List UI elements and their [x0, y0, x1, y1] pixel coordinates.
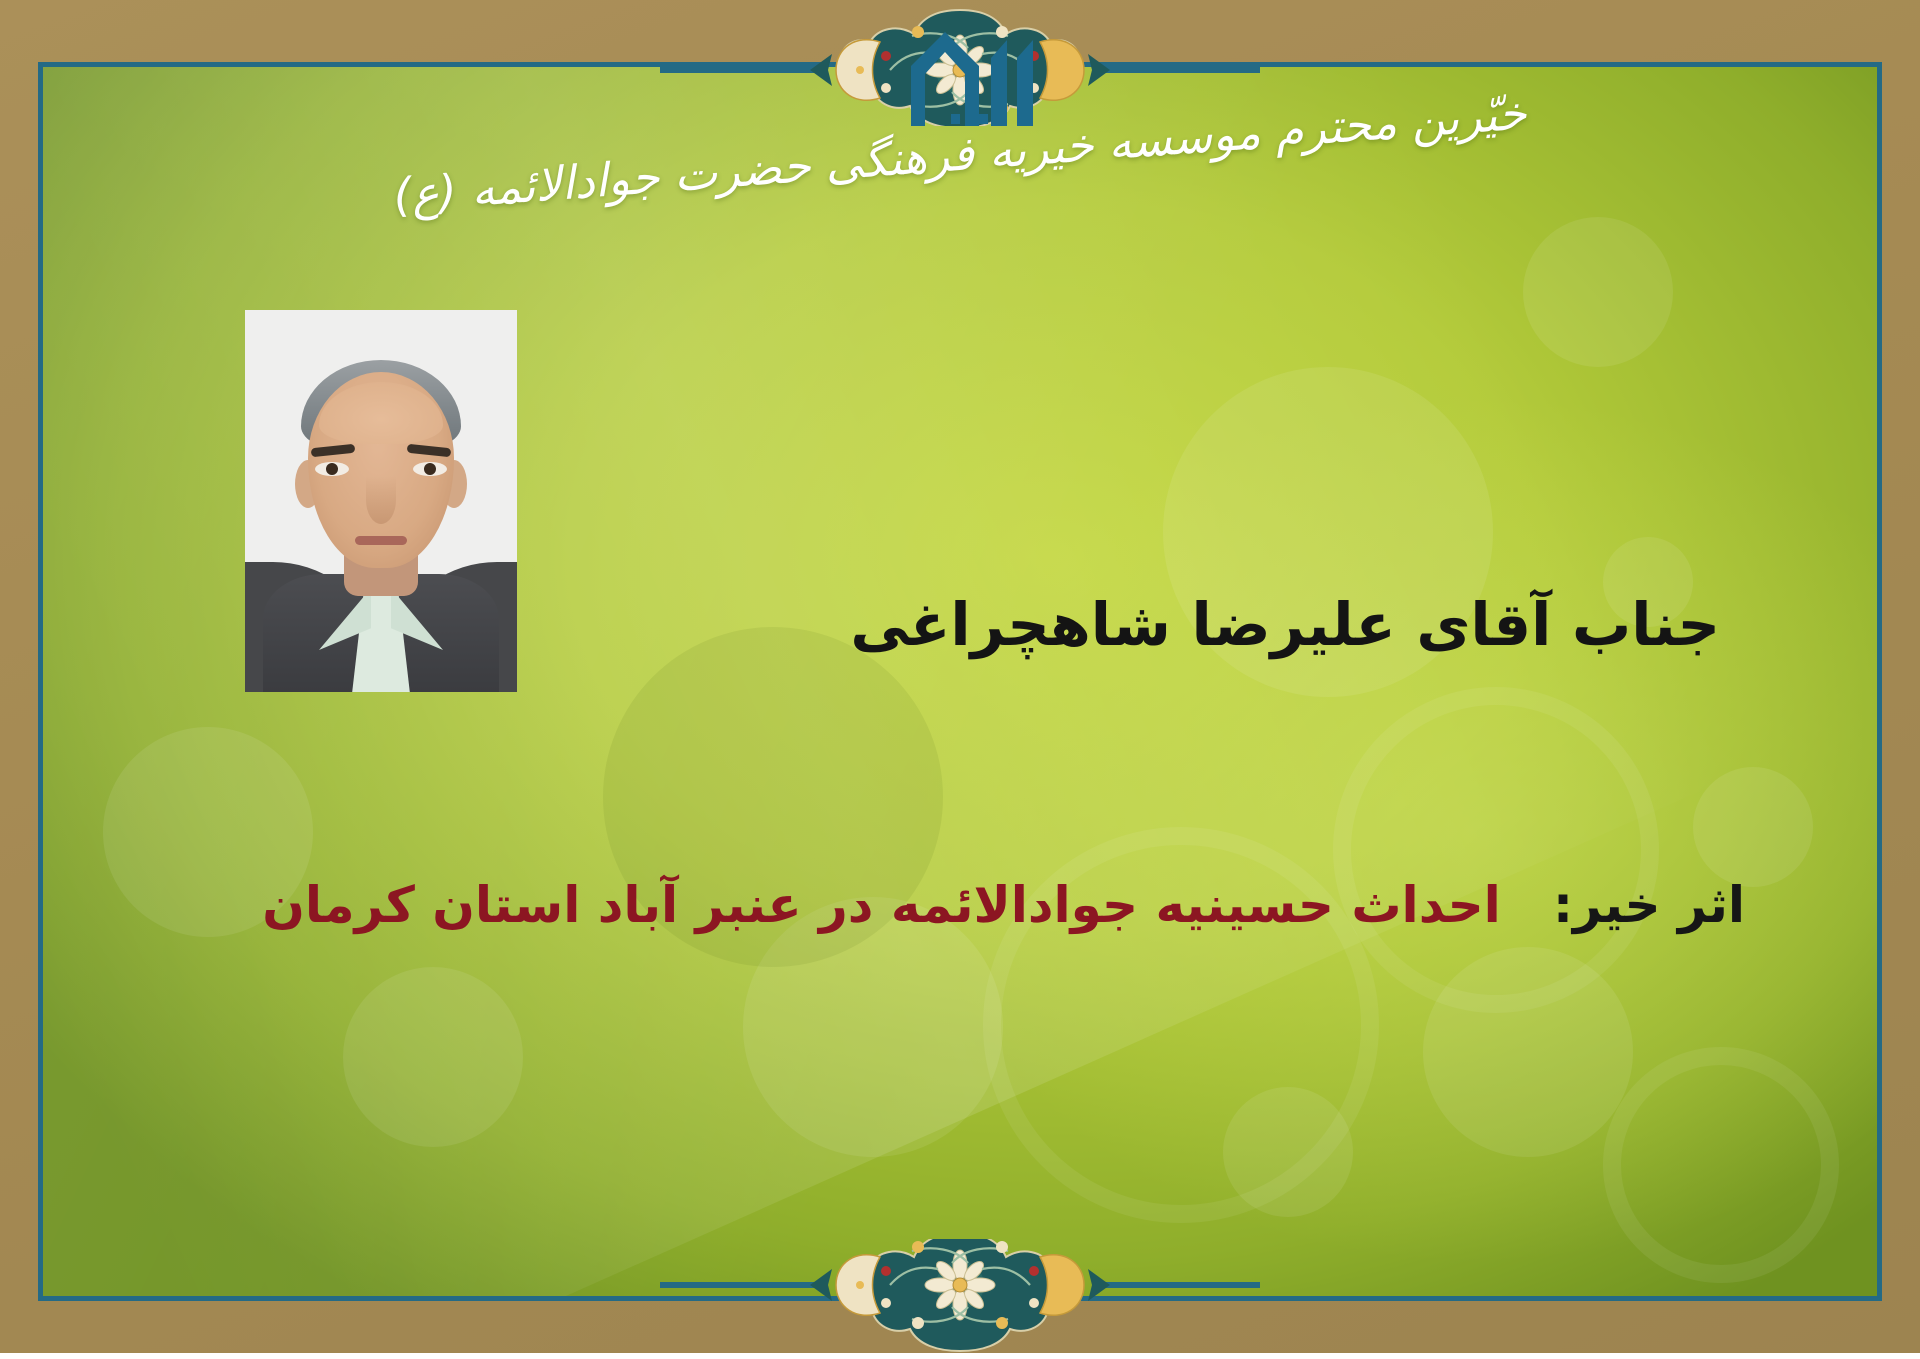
- portrait-eye-left: [315, 462, 349, 476]
- charitable-project-line: اثر خیر: احداث حسینیه جوادالائمه در عنبر…: [262, 875, 1745, 935]
- portrait-mouth: [355, 536, 407, 545]
- portrait-eye-right: [413, 462, 447, 476]
- institute-logo-icon: [903, 22, 1043, 130]
- portrait-nose: [366, 476, 396, 524]
- certificate-card: خیّرین محترم موسسه خیریه فرهنگی حضرت جوا…: [0, 0, 1920, 1353]
- honoree-portrait-photo: [245, 310, 517, 692]
- portrait-image: [245, 310, 517, 692]
- charitable-project-value: احداث حسینیه جوادالائمه در عنبر آباد است…: [262, 876, 1501, 934]
- portrait-pupil-right: [424, 463, 436, 475]
- portrait-pupil-left: [326, 463, 338, 475]
- honoree-name: جناب آقای علیرضا شاهچراغی: [850, 590, 1720, 661]
- charitable-project-label: اثر خیر:: [1553, 876, 1745, 934]
- calligraphy-heading-container: خیّرین محترم موسسه خیریه فرهنگی حضرت جوا…: [0, 128, 1920, 258]
